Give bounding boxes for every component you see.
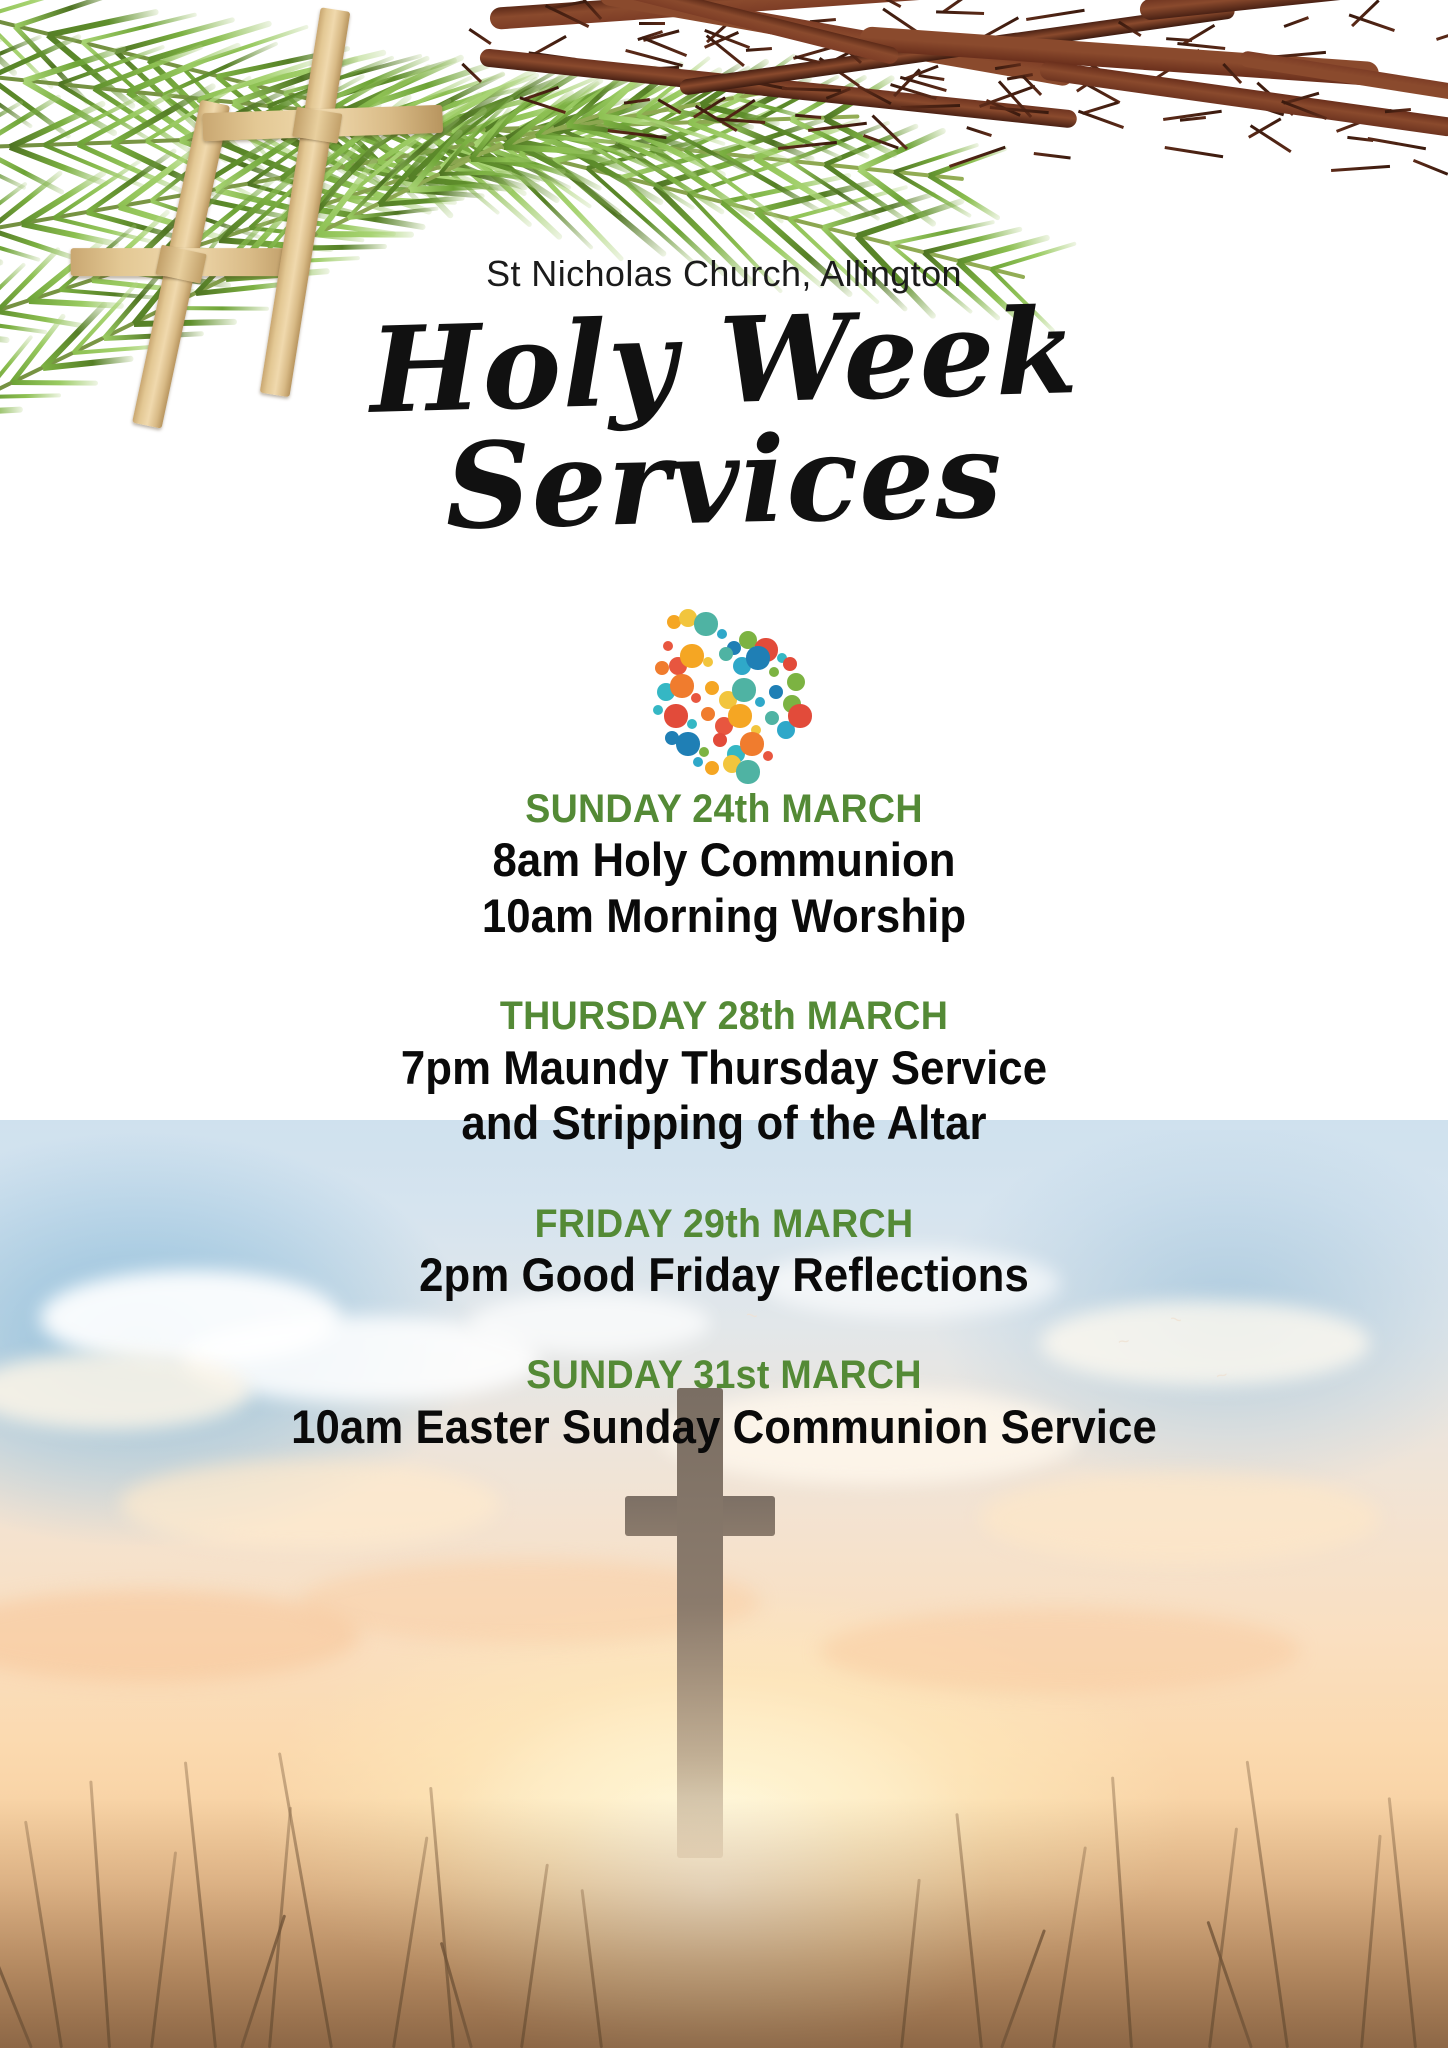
poster-text-content: St Nicholas Church, Allington Holy Week … [0,0,1448,2048]
service-line: 10am Morning Worship [51,888,1398,943]
logo-dot [676,732,699,755]
logo-dot [687,719,697,729]
logo-dot [788,704,811,727]
service-line: 2pm Good Friday Reflections [51,1247,1398,1302]
logo-dot [783,657,797,671]
logo-dot [717,629,727,639]
block-spacer [0,1302,1448,1352]
logo-dot [765,711,779,725]
logo-dot [655,661,669,675]
logo-dot [769,667,779,677]
service-schedule: SUNDAY 24th MARCH8am Holy Communion10am … [0,786,1448,1454]
logo-dot [703,657,713,667]
logo-dot [769,685,783,699]
service-date: THURSDAY 28th MARCH [43,993,1404,1039]
logo-dot [763,751,773,761]
logo-dot [693,757,703,767]
logo-dot [746,646,769,669]
logo-dot [728,704,751,727]
logo-dot [694,612,717,635]
logo-dot [680,644,703,667]
logo-dot [787,673,806,692]
logo-dot [664,704,687,727]
service-block: THURSDAY 28th MARCH7pm Maundy Thursday S… [0,993,1448,1150]
service-date: FRIDAY 29th MARCH [43,1201,1404,1247]
logo-dot [670,674,693,697]
block-spacer [0,1151,1448,1201]
logo-dot [653,705,663,715]
logo-dot [740,732,763,755]
service-line: 7pm Maundy Thursday Service [51,1040,1398,1095]
colourful-dotted-cross-logo-icon [674,648,774,756]
logo-dot [732,678,755,701]
block-spacer [0,943,1448,993]
service-line: 10am Easter Sunday Communion Service [51,1399,1398,1454]
service-block: SUNDAY 31st MARCH10am Easter Sunday Comm… [0,1352,1448,1454]
logo-dot [705,761,719,775]
holy-week-services-poster: ~ ~ ~ ~ ~ ~ [0,0,1448,2048]
service-block: FRIDAY 29th MARCH2pm Good Friday Reflect… [0,1201,1448,1303]
logo-dot [691,693,701,703]
logo-dot [736,760,759,783]
service-date: SUNDAY 24th MARCH [43,786,1404,832]
service-line: and Stripping of the Altar [51,1095,1398,1150]
logo-dot [699,747,709,757]
service-date: SUNDAY 31st MARCH [43,1352,1404,1398]
service-block: SUNDAY 24th MARCH8am Holy Communion10am … [0,786,1448,943]
logo-dot [663,641,673,651]
service-line: 8am Holy Communion [51,832,1398,887]
logo-dot [755,697,765,707]
